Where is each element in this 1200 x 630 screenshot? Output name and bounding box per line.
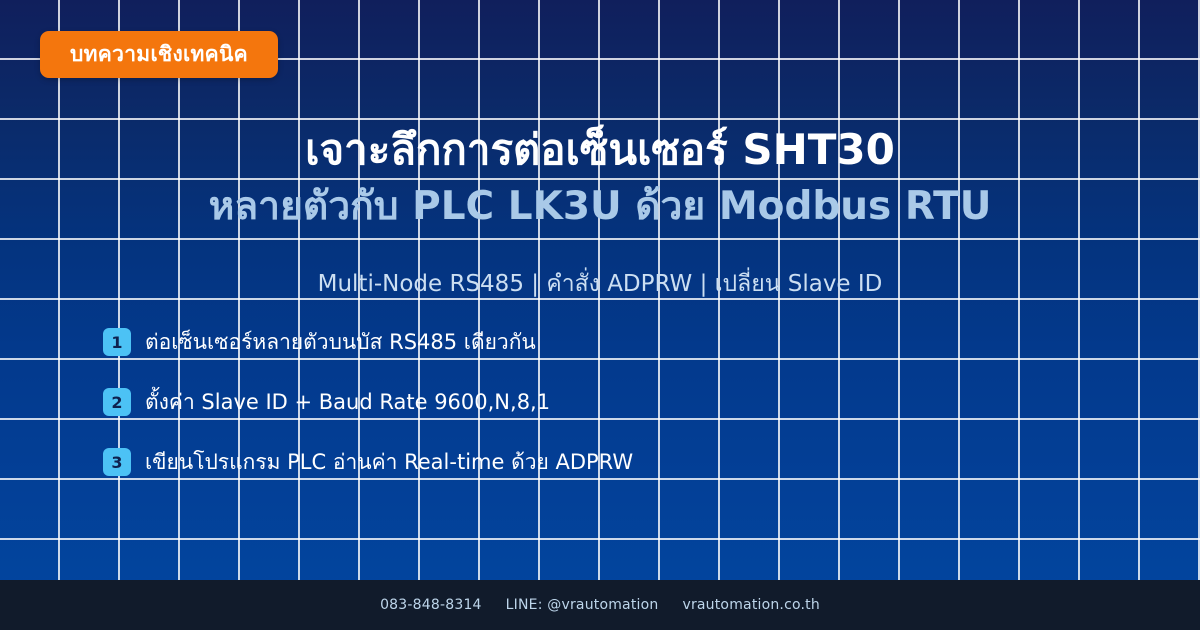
list-item: 2 ตั้งค่า Slave ID + Baud Rate 9600,N,8,… xyxy=(103,386,633,418)
footer-phone: 083-848-8314 xyxy=(380,597,482,613)
bullet-list: 1 ต่อเซ็นเซอร์หลายตัวบนบัส RS485 เดียวกั… xyxy=(103,326,633,478)
title-line-secondary: หลายตัวกับ PLC LK3U ด้วย Modbus RTU xyxy=(0,178,1200,236)
list-item: 1 ต่อเซ็นเซอร์หลายตัวบนบัส RS485 เดียวกั… xyxy=(103,326,633,358)
bullet-number-badge: 3 xyxy=(103,448,131,476)
footer-line-id: LINE: @vrautomation xyxy=(506,597,659,613)
list-item: 3 เขียนโปรแกรม PLC อ่านค่า Real-time ด้ว… xyxy=(103,446,633,478)
poster-canvas: บทความเชิงเทคนิค เจาะลึกการต่อเซ็นเซอร์ … xyxy=(0,0,1200,630)
title-line-primary: เจาะลึกการต่อเซ็นเซอร์ SHT30 xyxy=(0,122,1200,178)
subtitle-text: Multi-Node RS485 | คำสั่ง ADPRW | เปลี่ย… xyxy=(0,266,1200,302)
bullet-number-badge: 2 xyxy=(103,388,131,416)
grid-pattern-overlay xyxy=(0,0,1200,630)
category-badge-label: บทความเชิงเทคนิค xyxy=(70,38,248,71)
bullet-item-label: ต่อเซ็นเซอร์หลายตัวบนบัส RS485 เดียวกัน xyxy=(145,326,536,359)
headline-block: เจาะลึกการต่อเซ็นเซอร์ SHT30 หลายตัวกับ … xyxy=(0,122,1200,236)
bullet-number-badge: 1 xyxy=(103,328,131,356)
footer-website: vrautomation.co.th xyxy=(682,597,819,613)
bullet-item-label: เขียนโปรแกรม PLC อ่านค่า Real-time ด้วย … xyxy=(145,446,633,479)
bullet-item-label: ตั้งค่า Slave ID + Baud Rate 9600,N,8,1 xyxy=(145,386,550,419)
footer-contact-bar: 083-848-8314 LINE: @vrautomation vrautom… xyxy=(0,580,1200,630)
category-badge: บทความเชิงเทคนิค xyxy=(40,31,278,78)
